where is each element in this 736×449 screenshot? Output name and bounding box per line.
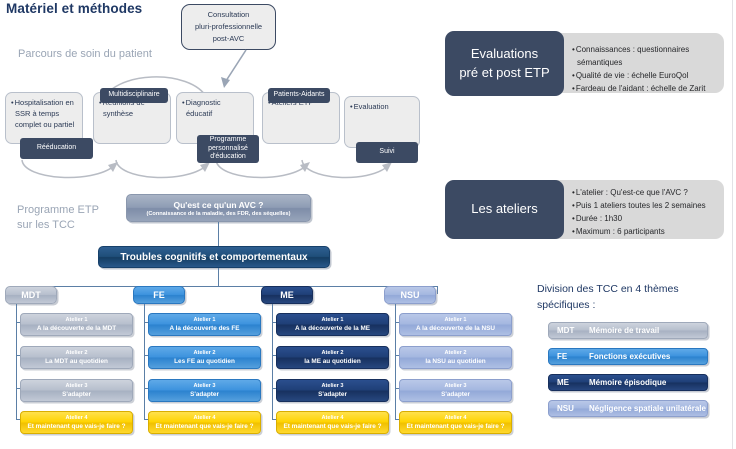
- consultation-line-1: Consultation: [195, 9, 262, 21]
- workshop-me-2-desc: la ME au quotidien: [304, 358, 360, 366]
- workshop-fe-2[interactable]: Atelier 2 Les FE au quotidien: [148, 346, 261, 369]
- evaluations-title-line-1: Evaluations: [459, 45, 549, 64]
- pathway-section-label: Parcours de soin du patient: [18, 47, 152, 62]
- ateliers-bullet-4: Maximum : 6 participants: [572, 226, 724, 239]
- connector-tcc-bus: [218, 268, 219, 287]
- workshop-me-1-number: Atelier 1: [321, 317, 343, 324]
- workshop-me-4[interactable]: Atelier 4 Et maintenant que vais-je fair…: [276, 411, 389, 434]
- consultation-line-2: pluri-professionnelle: [195, 21, 262, 33]
- ateliers-bullet-2: Puis 1 ateliers toutes les 2 semaines: [572, 200, 724, 213]
- workshop-mdt-3[interactable]: Atelier 3 S'adapter: [20, 379, 133, 402]
- pathway-card-5: Evaluation: [344, 96, 420, 148]
- column-header-fe[interactable]: FE: [133, 286, 185, 304]
- evaluations-bullet-list: Connaissances : questionnaires sémantiqu…: [572, 44, 722, 96]
- legend-title-line-2: spécifiques :: [537, 297, 727, 313]
- workshop-fe-4-number: Atelier 4: [193, 415, 215, 422]
- workshop-fe-2-desc: Les FE au quotidien: [174, 358, 235, 366]
- workshop-mdt-4-number: Atelier 4: [65, 415, 87, 422]
- connector-bus: [28, 286, 438, 287]
- pathway-chip-suivi: Suivi: [356, 142, 418, 163]
- evaluations-bullet-3: Fardeau de l'aidant : échelle de Zarit: [572, 83, 722, 96]
- pathway-chip-reeducation: Rééducation: [20, 138, 93, 159]
- evaluations-bullet-2: Qualité de vie : échelle EuroQol: [572, 70, 722, 83]
- workshop-mdt-2[interactable]: Atelier 2 La MDT au quotidien: [20, 346, 133, 369]
- pathway-card-5-bullet: Evaluation: [350, 102, 414, 113]
- workshop-nsu-4-desc: Et maintenant que vais-je faire ?: [406, 423, 504, 431]
- pathway-card-1: Hospitalisation en SSR à temps complet o…: [5, 92, 83, 144]
- avc-question-title: Qu'est ce qu'un AVC ?: [174, 200, 264, 210]
- connector-drop-nsu: [437, 286, 438, 294]
- legend-row-nsu[interactable]: NSU Négligence spatiale unilatérale: [548, 400, 708, 417]
- program-label-line-1: Programme ETP: [17, 203, 117, 218]
- legend-row-fe-key: FE: [549, 352, 589, 361]
- legend-row-me-key: ME: [549, 378, 589, 387]
- legend-row-nsu-key: NSU: [549, 404, 589, 413]
- workshop-nsu-4-number: Atelier 4: [444, 415, 466, 422]
- workshop-me-3-number: Atelier 3: [321, 383, 343, 390]
- workshop-fe-3[interactable]: Atelier 3 S'adapter: [148, 379, 261, 402]
- workshop-mdt-4-desc: Et maintenant que vais-je faire ?: [27, 423, 125, 431]
- page-title: Matériel et méthodes: [6, 1, 142, 16]
- legend-row-mdt[interactable]: MDT Mémoire de travail: [548, 322, 708, 339]
- workshop-me-3-desc: S'adapter: [318, 391, 347, 399]
- legend-row-fe-label: Fonctions exécutives: [589, 352, 707, 361]
- workshop-me-1-desc: A la découverte de la ME: [295, 325, 370, 333]
- avc-question-box: Qu'est ce qu'un AVC ? (Connaissance de l…: [126, 194, 311, 222]
- workshop-fe-4[interactable]: Atelier 4 Et maintenant que vais-je fair…: [148, 411, 261, 434]
- pathway-card-1-bullet: Hospitalisation en SSR à temps complet o…: [11, 98, 77, 131]
- column-header-nsu[interactable]: NSU: [384, 286, 436, 304]
- workshop-fe-1[interactable]: Atelier 1 A la découverte des FE: [148, 313, 261, 336]
- pathway-chip-patients-aidants: Patients-Aidants: [268, 88, 330, 103]
- workshop-me-2[interactable]: Atelier 2 la ME au quotidien: [276, 346, 389, 369]
- workshop-fe-3-number: Atelier 3: [193, 383, 215, 390]
- workshop-fe-1-number: Atelier 1: [193, 317, 215, 324]
- evaluations-title-line-2: pré et post ETP: [459, 64, 549, 83]
- column-header-me[interactable]: ME: [261, 286, 313, 304]
- workshop-nsu-1-number: Atelier 1: [444, 317, 466, 324]
- legend-row-mdt-key: MDT: [549, 326, 589, 335]
- ateliers-bullet-1: L'atelier : Qu'est-ce que l'AVC ?: [572, 187, 724, 200]
- legend-row-fe[interactable]: FE Fonctions exécutives: [548, 348, 708, 365]
- workshop-mdt-1-desc: A la découverte de la MDT: [37, 325, 116, 333]
- pathway-chip-multidisciplinaire: Multidisciplinaire: [100, 88, 168, 103]
- workshop-fe-2-number: Atelier 2: [193, 350, 215, 357]
- workshop-fe-1-desc: A la découverte des FE: [169, 325, 239, 333]
- tcc-box: Troubles cognitifs et comportementaux: [98, 246, 330, 268]
- avc-question-subtitle: (Connaissance de la maladie, des FDR, de…: [147, 211, 291, 217]
- workshop-me-3[interactable]: Atelier 3 S'adapter: [276, 379, 389, 402]
- workshop-nsu-1-desc: A la découverte de la NSU: [416, 325, 495, 333]
- pathway-arc-1-icon: [18, 158, 124, 190]
- ateliers-bullet-list: L'atelier : Qu'est-ce que l'AVC ? Puis 1…: [572, 187, 724, 239]
- legend-title: Division des TCC en 4 thèmes spécifiques…: [537, 281, 727, 314]
- legend-row-mdt-label: Mémoire de travail: [589, 326, 707, 335]
- pathway-chip-programme-personnalise: Programme personnalisé d'éducation: [197, 135, 259, 163]
- program-label-line-2: sur les TCC: [17, 218, 117, 233]
- workshop-me-1[interactable]: Atelier 1 A la découverte de la ME: [276, 313, 389, 336]
- workshop-fe-4-desc: Et maintenant que vais-je faire ?: [155, 423, 253, 431]
- right-edge-divider: [732, 0, 733, 449]
- workshop-me-4-desc: Et maintenant que vais-je faire ?: [283, 423, 381, 431]
- workshop-mdt-4[interactable]: Atelier 4 Et maintenant que vais-je fair…: [20, 411, 133, 434]
- workshop-me-4-number: Atelier 4: [321, 415, 343, 422]
- evaluations-title-box: Evaluations pré et post ETP: [445, 31, 564, 96]
- legend-row-me[interactable]: ME Mémoire épisodique: [548, 374, 708, 391]
- workshop-nsu-3[interactable]: Atelier 3 S'adapter: [399, 379, 512, 402]
- legend-row-nsu-label: Négligence spatiale unilatérale: [589, 404, 707, 413]
- program-section-label: Programme ETP sur les TCC: [17, 203, 117, 233]
- workshop-nsu-4[interactable]: Atelier 4 Et maintenant que vais-je fair…: [399, 411, 512, 434]
- workshop-nsu-3-desc: S'adapter: [441, 391, 470, 399]
- legend-title-line-1: Division des TCC en 4 thèmes: [537, 281, 727, 297]
- workshop-mdt-1[interactable]: Atelier 1 A la découverte de la MDT: [20, 313, 133, 336]
- evaluations-bullet-1: Connaissances : questionnaires sémantiqu…: [572, 44, 722, 70]
- workshop-mdt-1-number: Atelier 1: [65, 317, 87, 324]
- workshop-fe-3-desc: S'adapter: [190, 391, 219, 399]
- legend-row-me-label: Mémoire épisodique: [589, 378, 707, 387]
- workshop-nsu-2-desc: la NSU au quotidien: [425, 358, 485, 366]
- workshop-me-2-number: Atelier 2: [321, 350, 343, 357]
- ateliers-title: Les ateliers: [471, 200, 537, 219]
- connector-avc-tcc: [218, 222, 219, 246]
- consultation-line-3: post-AVC: [195, 33, 262, 45]
- workshop-mdt-2-desc: La MDT au quotidien: [45, 358, 108, 366]
- workshop-mdt-3-desc: S'adapter: [62, 391, 91, 399]
- workshop-mdt-3-number: Atelier 3: [65, 383, 87, 390]
- column-header-mdt[interactable]: MDT: [5, 286, 57, 304]
- workshop-nsu-1[interactable]: Atelier 1 A la découverte de la NSU: [399, 313, 512, 336]
- workshop-nsu-3-number: Atelier 3: [444, 383, 466, 390]
- workshop-nsu-2[interactable]: Atelier 2 la NSU au quotidien: [399, 346, 512, 369]
- workshop-nsu-2-number: Atelier 2: [444, 350, 466, 357]
- ateliers-bullet-3: Durée : 1h30: [572, 213, 724, 226]
- pathway-card-3-bullet: Diagnostic éducatif: [182, 98, 248, 120]
- ateliers-title-box: Les ateliers: [445, 180, 564, 239]
- consultation-box: Consultation pluri-professionnelle post-…: [181, 4, 276, 50]
- workshop-mdt-2-number: Atelier 2: [65, 350, 87, 357]
